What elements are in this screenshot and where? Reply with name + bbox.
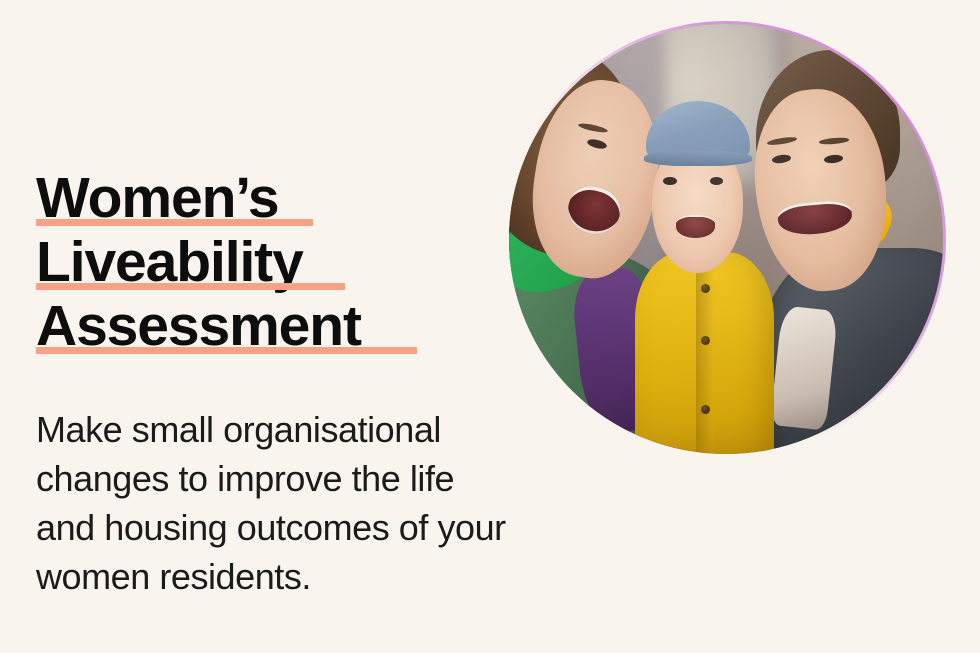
headline-underline-2	[36, 283, 345, 290]
subject-child-cap-band	[644, 151, 753, 166]
page-subtitle: Make small organisational changes to imp…	[36, 405, 506, 601]
subject-child-button-3	[701, 405, 710, 414]
subject-child-eye-right	[710, 177, 724, 185]
subject-child-button-1	[701, 284, 710, 293]
headline-underline-1	[36, 219, 313, 226]
photo-scene	[509, 24, 943, 454]
photo-clip	[509, 24, 943, 454]
subject-child-mouth	[676, 215, 715, 237]
slide-root: Women’s Liveability Assessment Make smal…	[0, 0, 980, 653]
subject-child-eye-left	[663, 177, 677, 185]
hero-photo	[506, 21, 946, 457]
headline-underline-3	[36, 347, 417, 354]
headline-line-3: Assessment	[36, 294, 506, 358]
text-column: Women’s Liveability Assessment Make smal…	[36, 166, 506, 601]
page-title: Women’s Liveability Assessment	[36, 166, 506, 358]
headline-line-2: Liveability	[36, 230, 506, 294]
headline-line-1: Women’s	[36, 166, 506, 230]
subject-child-button-2	[701, 336, 710, 345]
